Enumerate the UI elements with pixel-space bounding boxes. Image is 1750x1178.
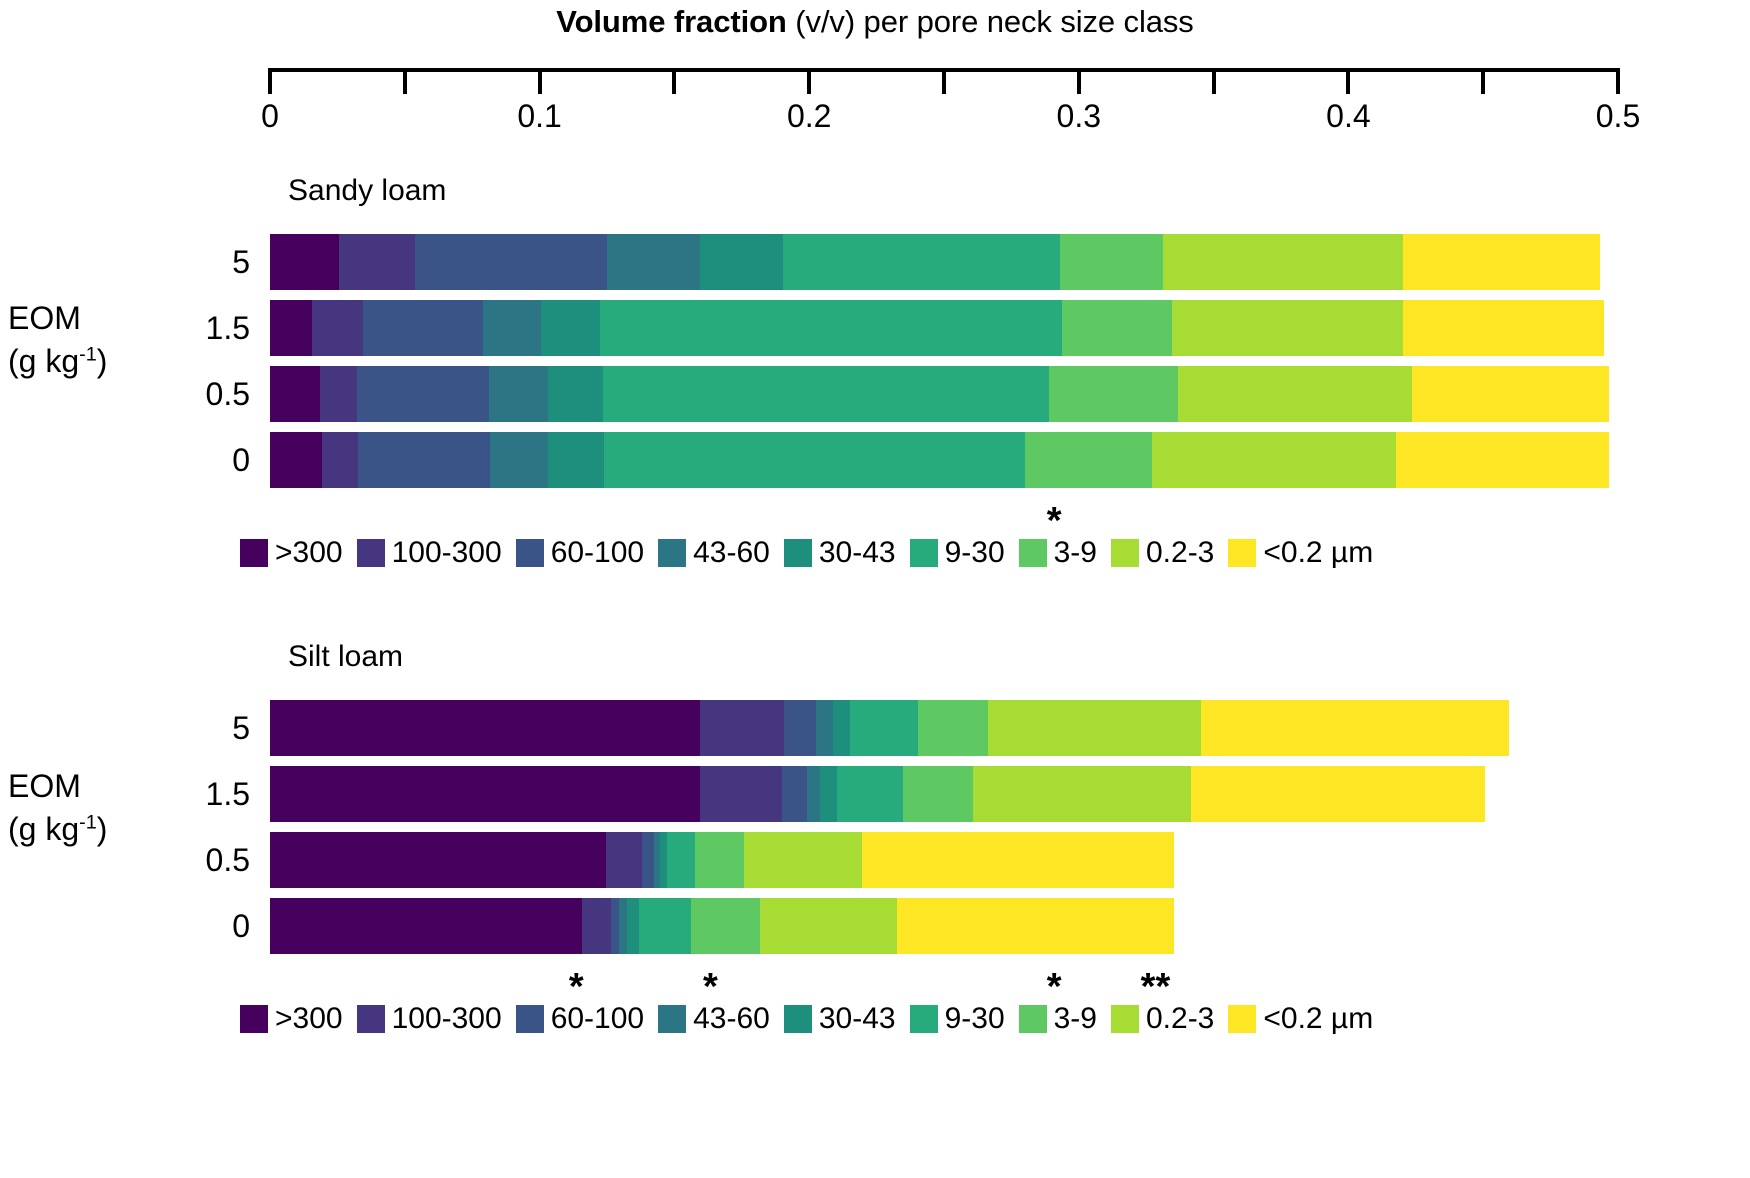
bar-segment-3-9 xyxy=(695,832,744,888)
bar-segment-3-9 xyxy=(903,766,973,822)
bar-segment-0-2-m xyxy=(1396,432,1609,488)
bar-segment-3-9 xyxy=(1062,300,1172,356)
significance-marker: * xyxy=(569,968,584,1006)
bar-segment-30-43 xyxy=(548,432,604,488)
legend-label: 3-9 xyxy=(1054,1004,1097,1034)
bar-segment-0-2-3 xyxy=(1178,366,1412,422)
bar-segment-60-100 xyxy=(363,300,483,356)
bar-segment-9-30 xyxy=(667,832,695,888)
bar-segment-43-60 xyxy=(619,898,627,954)
bar-segment-60-100 xyxy=(611,898,619,954)
bar-segment-3-9 xyxy=(691,898,760,954)
x-axis-tick xyxy=(268,68,272,94)
significance-marker: * xyxy=(703,968,718,1006)
legend-swatch-icon xyxy=(1111,1005,1139,1033)
bar-row-label: 1.5 xyxy=(130,310,250,347)
legend-swatch-icon xyxy=(910,539,938,567)
legend-item[interactable]: 30-43 xyxy=(784,1004,896,1034)
legend-item[interactable]: 60-100 xyxy=(516,538,644,568)
bar-row-label: 0.5 xyxy=(130,376,250,413)
legend-item[interactable]: 100-300 xyxy=(357,1004,502,1034)
chart-title: Volume fraction (v/v) per pore neck size… xyxy=(0,4,1750,40)
bar-row-label: 5 xyxy=(130,244,250,281)
legend-label: >300 xyxy=(275,1004,343,1034)
x-axis-tick xyxy=(1616,68,1620,94)
bar-segment-300 xyxy=(270,366,320,422)
legend-item[interactable]: 0.2-3 xyxy=(1111,1004,1214,1034)
x-axis-tick-label: 0 xyxy=(210,98,330,135)
legend-label: <0.2 µm xyxy=(1263,1004,1373,1034)
bar-segment-0-2-m xyxy=(1412,366,1609,422)
bar-segment-30-43 xyxy=(627,898,638,954)
bar-segment-100-300 xyxy=(322,432,358,488)
bar-segment-30-43 xyxy=(700,234,783,290)
legend-label: 3-9 xyxy=(1054,538,1097,568)
axis-label-eom-silt: EOM (g kg-1) xyxy=(8,765,107,851)
bar-segment-9-30 xyxy=(639,898,691,954)
bar-segment-0-2-m xyxy=(1201,700,1509,756)
bar-segment-0-2-m xyxy=(897,898,1175,954)
x-axis-tick xyxy=(1077,68,1081,94)
legend: >300100-30060-10043-6030-439-303-90.2-3<… xyxy=(240,1004,1387,1034)
x-axis-tick xyxy=(1346,68,1350,94)
chart-title-bold: Volume fraction xyxy=(556,4,786,39)
bar-segment-0-2-m xyxy=(1403,234,1600,290)
legend-swatch-icon xyxy=(1019,539,1047,567)
significance-marker: * xyxy=(1047,968,1062,1006)
x-axis-tick xyxy=(1212,68,1216,94)
legend-item[interactable]: 43-60 xyxy=(658,1004,770,1034)
legend-swatch-icon xyxy=(658,539,686,567)
bar-row-label: 0.5 xyxy=(130,842,250,879)
significance-marker: * xyxy=(1047,502,1062,540)
bar-segment-100-300 xyxy=(582,898,611,954)
stacked-bar xyxy=(270,234,1600,290)
bar-segment-43-60 xyxy=(489,366,548,422)
bar-row-label: 1.5 xyxy=(130,776,250,813)
stacked-bar xyxy=(270,766,1485,822)
x-axis-tick xyxy=(672,68,676,94)
bar-segment-30-43 xyxy=(541,300,600,356)
legend-label: 9-30 xyxy=(945,538,1005,568)
legend-label: 100-300 xyxy=(392,1004,502,1034)
bar-segment-9-30 xyxy=(837,766,903,822)
eom-units-sandy: (g kg-1) xyxy=(8,340,107,383)
x-axis-tick-label: 0.2 xyxy=(749,98,869,135)
legend-item[interactable]: >300 xyxy=(240,1004,343,1034)
legend-swatch-icon xyxy=(357,1005,385,1033)
bar-segment-0-2-m xyxy=(862,832,1174,888)
bar-segment-60-100 xyxy=(357,366,489,422)
x-axis-tick xyxy=(807,68,811,94)
bar-segment-30-43 xyxy=(660,832,667,888)
legend-label: 9-30 xyxy=(945,1004,1005,1034)
x-axis-tick-label: 0.5 xyxy=(1558,98,1678,135)
legend-label: 60-100 xyxy=(551,538,644,568)
eom-text-silt: EOM xyxy=(8,765,107,808)
significance-marker: ** xyxy=(1141,968,1171,1006)
legend-swatch-icon xyxy=(1228,539,1256,567)
bar-segment-0-2-3 xyxy=(1172,300,1402,356)
bar-segment-300 xyxy=(270,766,700,822)
bar-segment-60-100 xyxy=(782,766,807,822)
bar-segment-300 xyxy=(270,234,339,290)
bar-segment-0-2-3 xyxy=(1163,234,1403,290)
axis-label-eom-sandy: EOM (g kg-1) xyxy=(8,297,107,383)
bar-segment-3-9 xyxy=(1049,366,1178,422)
bar-segment-9-30 xyxy=(603,366,1048,422)
legend-swatch-icon xyxy=(784,1005,812,1033)
bar-segment-43-60 xyxy=(483,300,541,356)
panel-title-silt-loam: Silt loam xyxy=(288,640,403,674)
legend-label: 0.2-3 xyxy=(1146,538,1214,568)
legend-swatch-icon xyxy=(784,539,812,567)
x-axis-tick-label: 0.1 xyxy=(480,98,600,135)
bar-row-label: 0 xyxy=(130,442,250,479)
bar-segment-300 xyxy=(270,432,322,488)
stacked-bar xyxy=(270,300,1604,356)
bar-segment-60-100 xyxy=(642,832,654,888)
legend-item[interactable]: 0.2-3 xyxy=(1111,538,1214,568)
bar-segment-60-100 xyxy=(784,700,816,756)
legend-swatch-icon xyxy=(658,1005,686,1033)
bar-segment-300 xyxy=(270,898,582,954)
bar-segment-100-300 xyxy=(312,300,363,356)
legend-item[interactable]: 3-9 xyxy=(1019,1004,1097,1034)
bar-segment-9-30 xyxy=(850,700,917,756)
legend-swatch-icon xyxy=(910,1005,938,1033)
legend-item[interactable]: <0.2 µm xyxy=(1228,1004,1373,1034)
eom-units-silt: (g kg-1) xyxy=(8,808,107,851)
bar-segment-9-30 xyxy=(600,300,1062,356)
bar-segment-300 xyxy=(270,832,606,888)
bar-segment-300 xyxy=(270,700,700,756)
bar-segment-100-300 xyxy=(339,234,415,290)
bar-segment-0-2-3 xyxy=(973,766,1191,822)
chart-title-rest: (v/v) per pore neck size class xyxy=(787,4,1194,39)
legend-item[interactable]: 100-300 xyxy=(357,538,502,568)
bar-segment-0-2-3 xyxy=(988,700,1201,756)
legend-label: 0.2-3 xyxy=(1146,1004,1214,1034)
stacked-bar xyxy=(270,898,1175,954)
bar-segment-300 xyxy=(270,300,312,356)
panel-title-sandy-loam: Sandy loam xyxy=(288,174,446,208)
x-axis xyxy=(270,68,1618,94)
legend-label: >300 xyxy=(275,538,343,568)
legend-item[interactable]: 9-30 xyxy=(910,538,1005,568)
bar-segment-3-9 xyxy=(1060,234,1162,290)
legend-label: 100-300 xyxy=(392,538,502,568)
bar-segment-43-60 xyxy=(807,766,820,822)
legend-item[interactable]: >300 xyxy=(240,538,343,568)
chart-canvas: Volume fraction (v/v) per pore neck size… xyxy=(0,0,1750,1178)
eom-text-sandy: EOM xyxy=(8,297,107,340)
bar-segment-30-43 xyxy=(820,766,837,822)
legend-swatch-icon xyxy=(357,539,385,567)
bar-segment-100-300 xyxy=(700,766,782,822)
bar-segment-30-43 xyxy=(833,700,850,756)
bar-segment-0-2-3 xyxy=(760,898,897,954)
bar-segment-43-60 xyxy=(490,432,548,488)
stacked-bar xyxy=(270,366,1609,422)
legend-label: <0.2 µm xyxy=(1263,538,1373,568)
legend-swatch-icon xyxy=(240,1005,268,1033)
bar-segment-0-2-m xyxy=(1191,766,1485,822)
legend-item[interactable]: <0.2 µm xyxy=(1228,538,1373,568)
legend-label: 43-60 xyxy=(693,538,770,568)
legend-item[interactable]: 9-30 xyxy=(910,1004,1005,1034)
legend-swatch-icon xyxy=(1228,1005,1256,1033)
x-axis-tick-label: 0.3 xyxy=(1019,98,1139,135)
bar-segment-9-30 xyxy=(604,432,1025,488)
legend-item[interactable]: 60-100 xyxy=(516,1004,644,1034)
bar-segment-100-300 xyxy=(606,832,642,888)
x-axis-tick xyxy=(538,68,542,94)
bar-segment-0-2-m xyxy=(1403,300,1604,356)
bar-segment-60-100 xyxy=(358,432,490,488)
stacked-bar xyxy=(270,832,1174,888)
legend-label: 30-43 xyxy=(819,1004,896,1034)
bar-segment-60-100 xyxy=(415,234,607,290)
bar-segment-100-300 xyxy=(700,700,784,756)
bar-segment-9-30 xyxy=(783,234,1060,290)
bar-segment-43-60 xyxy=(607,234,700,290)
x-axis-tick xyxy=(403,68,407,94)
stacked-bar xyxy=(270,700,1509,756)
legend-label: 30-43 xyxy=(819,538,896,568)
bar-segment-0-2-3 xyxy=(744,832,862,888)
bar-segment-43-60 xyxy=(816,700,833,756)
legend-swatch-icon xyxy=(1019,1005,1047,1033)
bar-row-label: 0 xyxy=(130,908,250,945)
bar-segment-3-9 xyxy=(918,700,988,756)
legend: >300100-30060-10043-6030-439-303-90.2-3<… xyxy=(240,538,1387,568)
bar-segment-30-43 xyxy=(548,366,603,422)
legend-label: 60-100 xyxy=(551,1004,644,1034)
bar-segment-100-300 xyxy=(320,366,357,422)
stacked-bar xyxy=(270,432,1609,488)
x-axis-tick xyxy=(942,68,946,94)
bar-segment-0-2-3 xyxy=(1152,432,1396,488)
x-axis-tick-label: 0.4 xyxy=(1288,98,1408,135)
legend-swatch-icon xyxy=(1111,539,1139,567)
legend-swatch-icon xyxy=(516,1005,544,1033)
x-axis-tick xyxy=(1481,68,1485,94)
legend-item[interactable]: 3-9 xyxy=(1019,538,1097,568)
bar-row-label: 5 xyxy=(130,710,250,747)
legend-item[interactable]: 43-60 xyxy=(658,538,770,568)
legend-label: 43-60 xyxy=(693,1004,770,1034)
legend-item[interactable]: 30-43 xyxy=(784,538,896,568)
legend-swatch-icon xyxy=(240,539,268,567)
legend-swatch-icon xyxy=(516,539,544,567)
bar-segment-3-9 xyxy=(1025,432,1152,488)
